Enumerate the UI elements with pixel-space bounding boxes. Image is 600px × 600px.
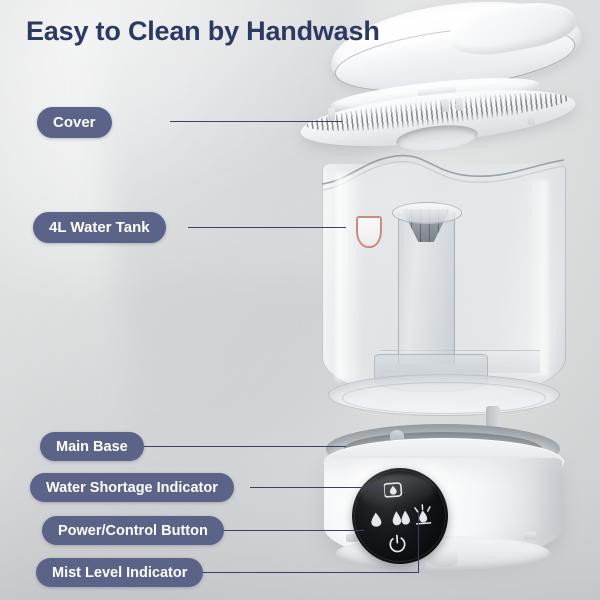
callout-power-control[interactable]: Power/Control Button: [42, 516, 224, 545]
callout-main-base[interactable]: Main Base: [40, 432, 144, 461]
mist-level-medium-icon: [392, 509, 411, 526]
mist-level-low-icon: [370, 511, 383, 528]
water-shortage-icon: [384, 480, 405, 499]
callout-water-tank[interactable]: 4L Water Tank: [33, 212, 166, 243]
callout-main-base-label: Main Base: [56, 439, 128, 455]
page-title: Easy to Clean by Handwash: [26, 16, 380, 47]
callout-power-control-label: Power/Control Button: [58, 523, 208, 539]
leader-line-power-control: [212, 530, 364, 531]
leader-line-water-tank: [188, 227, 346, 228]
leader-line-mist-level-vertical: [418, 512, 419, 573]
infographic-canvas: Easy to Clean by Handwash Cover 4L Water…: [0, 0, 600, 600]
mist-level-high-icon: [413, 504, 432, 527]
leader-line-main-base: [134, 446, 346, 447]
water-tank-chimney-top-ring: [392, 202, 462, 224]
power-button-icon: [387, 534, 407, 554]
water-tank-bottom-ring: [342, 382, 546, 414]
cover-leg: [528, 112, 535, 125]
callout-water-shortage-label: Water Shortage Indicator: [46, 480, 218, 496]
product-exploded-view: [0, 0, 600, 600]
water-tank-glare-left: [336, 174, 364, 380]
leader-line-cover: [170, 121, 342, 122]
leader-line-water-shortage: [250, 487, 378, 488]
leader-line-mist-level: [186, 572, 419, 573]
callout-cover[interactable]: Cover: [37, 107, 112, 138]
cover-leg: [328, 108, 335, 121]
product-part-water-tank: [322, 150, 564, 412]
cover-leg: [442, 99, 449, 112]
callout-cover-label: Cover: [53, 114, 96, 131]
main-base-center-foot: [428, 552, 458, 567]
cover-leg: [456, 98, 463, 111]
product-part-cover: [300, 82, 580, 154]
callout-water-tank-label: 4L Water Tank: [49, 219, 150, 236]
callout-mist-level-label: Mist Level Indicator: [52, 565, 187, 581]
shield-badge-icon: [356, 216, 382, 248]
main-base-foot: [524, 532, 536, 540]
callout-mist-level[interactable]: Mist Level Indicator: [36, 558, 203, 587]
water-tank-glare-right: [526, 180, 548, 376]
callout-water-shortage[interactable]: Water Shortage Indicator: [30, 473, 234, 502]
